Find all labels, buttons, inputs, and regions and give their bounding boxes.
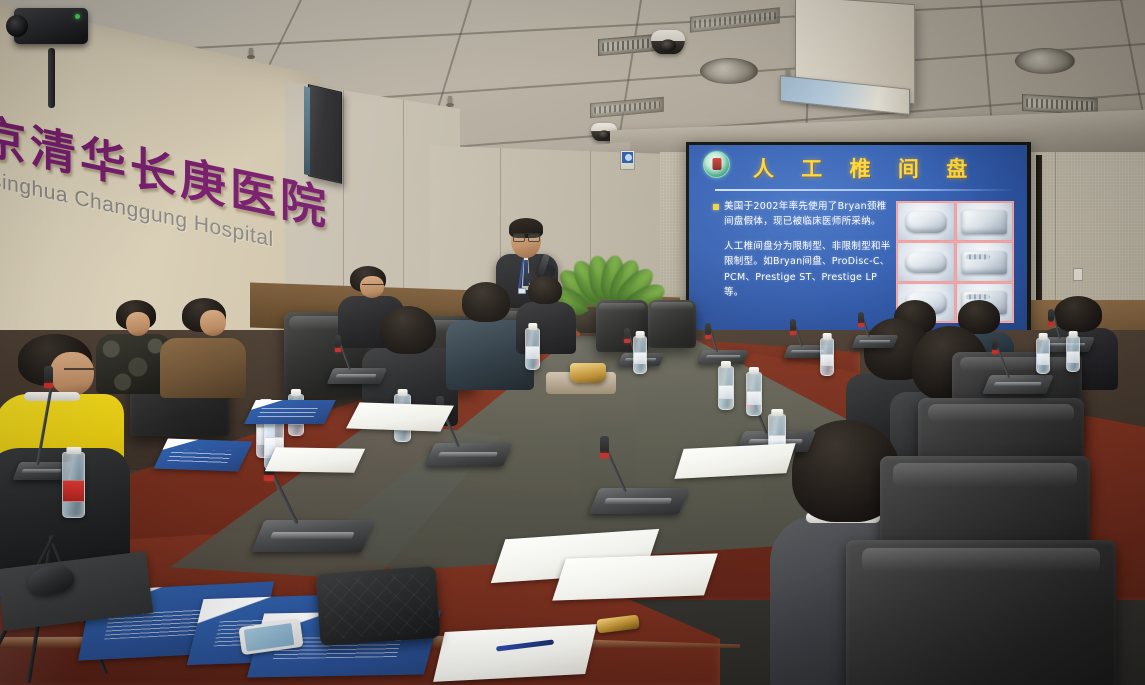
gooseneck-microphone <box>330 338 384 384</box>
ceiling-air-vent <box>590 97 664 118</box>
slide-bullet-item: 美国于2002年率先使用了Bryan颈椎间盘假体，现已被临床医师所采纳。 <box>713 199 893 230</box>
attendee-glasses <box>64 368 94 375</box>
program-booklet <box>153 439 252 472</box>
slide-title: 人 工 椎 间 盘 <box>753 153 977 183</box>
document-sheet <box>552 553 718 600</box>
water-bottle <box>1066 336 1080 372</box>
implant-photo <box>956 242 1014 281</box>
presenter-glasses <box>513 233 540 239</box>
ceiling-air-vent <box>690 7 780 32</box>
phone-screen <box>244 623 295 651</box>
water-bottle <box>525 328 540 370</box>
implant-photo <box>956 202 1014 241</box>
laptop-bag <box>316 566 441 646</box>
sprinkler-head <box>249 48 253 57</box>
attendee-glasses <box>362 284 384 290</box>
water-bottle <box>62 452 85 518</box>
conference-room-photo: 京清华长庚医院 Tsinghua Changgung Hospital 人 工 … <box>0 0 1145 685</box>
slide-paragraph-text: 人工椎间盘分为限制型、非限制型和半限制型。如Bryan间盘、ProDisc-C、… <box>713 239 893 301</box>
conference-chair <box>846 540 1116 685</box>
slide-body: 美国于2002年率先使用了Bryan颈椎间盘假体，现已被临床医师所采纳。 人工椎… <box>713 199 893 300</box>
video-camera <box>14 8 88 44</box>
document-sheet <box>674 443 795 479</box>
gooseneck-microphone <box>854 314 896 348</box>
water-bottle <box>746 372 762 416</box>
slide-header: 人 工 椎 间 盘 <box>689 145 1027 189</box>
bullet-square-icon <box>713 204 719 210</box>
water-bottle <box>718 366 734 410</box>
gooseneck-microphone <box>258 460 368 552</box>
document-sheet <box>265 447 365 473</box>
ceiling-air-vent <box>700 58 758 84</box>
hospital-emblem-icon <box>703 151 730 178</box>
attendee <box>160 298 246 394</box>
wall-information-sign <box>620 150 635 170</box>
program-booklet <box>244 400 336 424</box>
dome-security-camera <box>651 30 685 54</box>
gooseneck-microphone <box>594 440 684 514</box>
gooseneck-microphone <box>16 370 68 480</box>
light-switch-plate[interactable] <box>1073 268 1083 281</box>
implant-photo <box>897 242 955 281</box>
ceiling-air-vent <box>1015 48 1075 74</box>
document-sheet <box>346 402 454 431</box>
document-sheet <box>433 624 597 682</box>
water-bottle <box>1036 338 1050 374</box>
water-bottle <box>633 336 647 374</box>
water-bottle <box>820 338 834 376</box>
gooseneck-microphone <box>700 326 746 364</box>
record-indicator-icon <box>75 14 80 19</box>
implant-photo <box>897 202 955 241</box>
sprinkler-head <box>448 96 452 105</box>
wall-loudspeaker <box>308 84 342 184</box>
slide-bullet-text: 美国于2002年率先使用了Bryan颈椎间盘假体，现已被临床医师所采纳。 <box>724 199 893 230</box>
slide-divider <box>715 189 1015 191</box>
gold-table-ornament <box>570 363 606 383</box>
